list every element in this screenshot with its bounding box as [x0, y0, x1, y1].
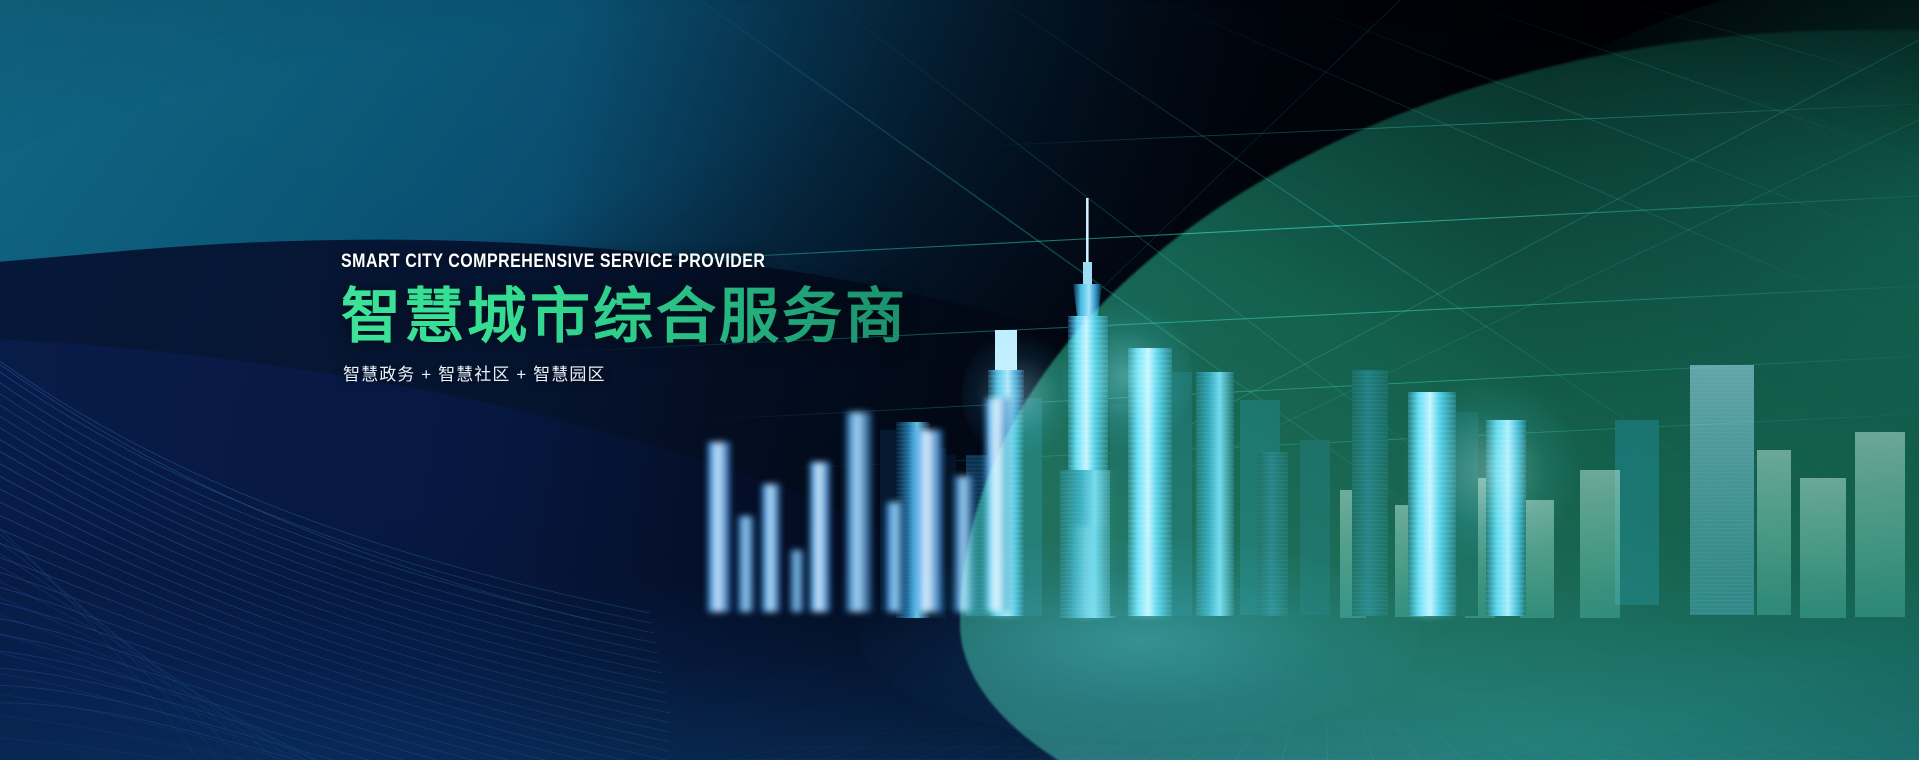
hero-copy: SMART CITY COMPREHENSIVE SERVICE PROVIDE…: [341, 252, 908, 383]
hero-eyebrow: SMART CITY COMPREHENSIVE SERVICE PROVIDE…: [341, 252, 817, 271]
hero-headline: 智慧城市综合服务商: [341, 285, 908, 350]
hero-banner: SMART CITY COMPREHENSIVE SERVICE PROVIDE…: [0, 0, 1919, 760]
hero-tagline: 智慧政务 + 智慧社区 + 智慧园区: [343, 366, 908, 383]
